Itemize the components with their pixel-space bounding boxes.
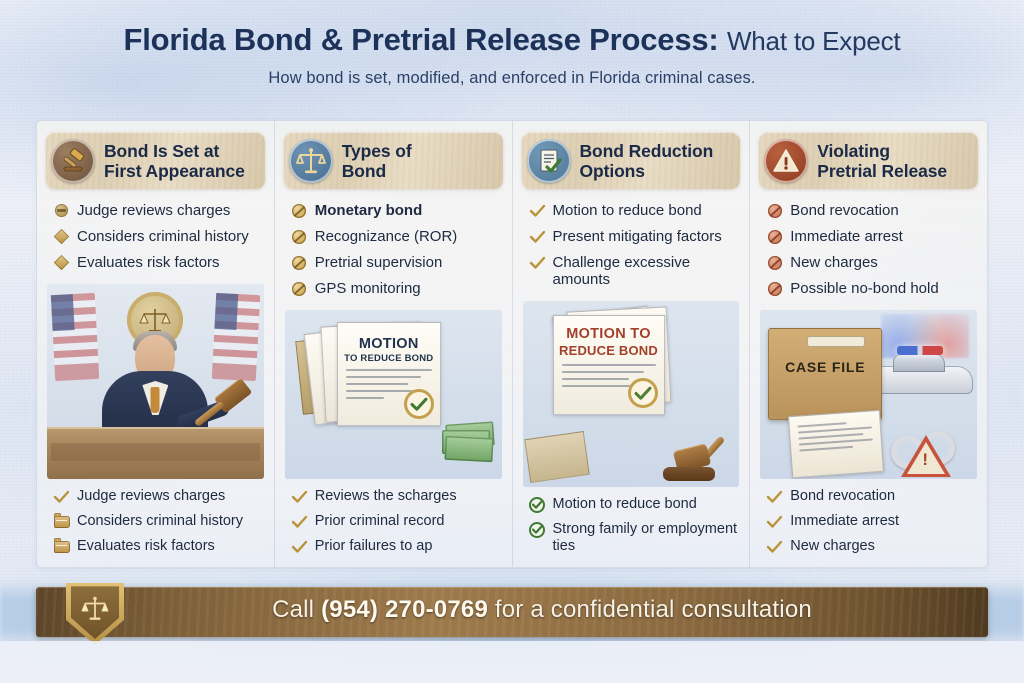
check-icon — [528, 228, 547, 245]
coin-bullet-icon — [290, 228, 309, 245]
column-title-violating-pretrial-release: Violating Pretrial Release — [817, 141, 947, 181]
green-check-icon — [528, 521, 547, 538]
motion-doc-subtitle: TO REDUCE BOND — [338, 353, 440, 364]
check-icon — [528, 202, 547, 219]
list-item: Monetary bond — [290, 202, 501, 219]
column-header-bond-is-set: Bond Is Set at First Appearance — [46, 132, 265, 189]
list-violating-bottom: Bond revocation Immediate arrest New cha… — [759, 479, 978, 563]
list-bond-reduction-top: Motion to reduce bond Present mitigating… — [522, 189, 741, 297]
list-item: Prior failures to ap — [290, 538, 501, 555]
column-header-bond-reduction-options: Bond Reduction Options — [522, 132, 741, 189]
column-bond-reduction-options: Bond Reduction Options Motion to reduce … — [513, 121, 751, 567]
list-item: Immediate arrest — [765, 513, 976, 530]
list-bond-is-set-top: Judge reviews charges Considers criminal… — [46, 189, 265, 280]
column-header-types-of-bond: Types of Bond — [284, 132, 503, 189]
list-types-of-bond-top: Monetary bond Recognizance (ROR) Pretria… — [284, 189, 503, 306]
police-car-icon — [871, 346, 975, 402]
red-coin-bullet-icon — [765, 280, 784, 297]
warning-triangle-icon — [764, 139, 808, 183]
scales-icon — [289, 139, 333, 183]
page-title-main: Florida Bond & Pretrial Release Process: — [124, 22, 719, 57]
warning-exclamation: ! — [922, 451, 928, 469]
column-title-types-of-bond: Types of Bond — [342, 141, 412, 181]
list-item: Present mitigating factors — [528, 228, 739, 245]
list-item: Judge reviews charges — [52, 202, 263, 219]
list-item: Considers criminal history — [52, 228, 263, 245]
list-item: Considers criminal history — [52, 513, 263, 530]
case-file-label: CASE FILE — [769, 359, 881, 375]
cta-text: Call (954) 270-0769 for a confidential c… — [0, 596, 1024, 624]
bottom-edge-wash — [0, 641, 1024, 683]
list-item: Possible no-bond hold — [765, 280, 976, 297]
column-title-bond-reduction-options: Bond Reduction Options — [580, 141, 714, 181]
motion-document: MOTION TO REDUCE BOND — [337, 322, 441, 426]
police-lightbar — [897, 346, 943, 355]
list-item: Pretrial supervision — [290, 254, 501, 271]
list-item: GPS monitoring — [290, 280, 501, 297]
list-item: Recognizance (ROR) — [290, 228, 501, 245]
diamond-bullet-icon — [52, 254, 71, 271]
check-icon — [290, 538, 309, 555]
disc-bullet-icon — [52, 202, 71, 219]
red-coin-bullet-icon — [765, 202, 784, 219]
document-check-icon — [527, 139, 571, 183]
check-icon — [765, 513, 784, 530]
case-file-folder: CASE FILE — [768, 328, 882, 420]
case-document — [788, 410, 884, 478]
call-to-action-banner[interactable]: Call (954) 270-0769 for a confidential c… — [0, 585, 1024, 643]
folder-icon — [52, 538, 71, 555]
list-item: Challenge excessive amounts — [528, 254, 739, 288]
motion-documents-and-cash-illustration: MOTION TO REDUCE BOND — [285, 310, 502, 479]
infographic-header: Florida Bond & Pretrial Release Process:… — [0, 22, 1024, 88]
case-file-police-car-handcuffs-illustration: CASE FILE ! — [760, 310, 977, 479]
motion-reduce-title: MOTION TO — [554, 326, 664, 342]
cash-stack-icon — [442, 423, 494, 457]
coin-bullet-icon — [290, 202, 309, 219]
list-item: Evaluates risk factors — [52, 538, 263, 555]
check-icon — [765, 538, 784, 555]
column-title-bond-is-set: Bond Is Set at First Appearance — [104, 141, 245, 181]
green-check-seal-icon — [628, 378, 658, 408]
column-types-of-bond: Types of Bond Monetary bond Recognizance… — [275, 121, 513, 567]
judge-at-bench-illustration — [47, 284, 264, 479]
folder-icon — [52, 513, 71, 530]
coin-bullet-icon — [290, 254, 309, 271]
check-icon — [52, 488, 71, 505]
motion-doc-title: MOTION — [338, 336, 440, 352]
cta-prefix: Call — [272, 596, 321, 623]
check-icon — [290, 513, 309, 530]
page-subtitle: How bond is set, modified, and enforced … — [0, 69, 1024, 88]
list-item: Prior criminal record — [290, 513, 501, 530]
check-icon — [765, 488, 784, 505]
list-item: Bond revocation — [765, 202, 976, 219]
red-coin-bullet-icon — [765, 228, 784, 245]
motion-reduce-subtitle: REDUCE BOND — [554, 343, 664, 358]
list-item: Motion to reduce bond — [528, 496, 739, 513]
coin-bullet-icon — [290, 280, 309, 297]
us-flag-right — [212, 293, 260, 381]
motion-reduce-document: MOTION TO REDUCE BOND — [553, 315, 665, 415]
judge-bench — [47, 427, 264, 479]
list-item: Immediate arrest — [765, 228, 976, 245]
check-icon — [290, 488, 309, 505]
column-header-violating-pretrial-release: Violating Pretrial Release — [759, 132, 978, 189]
list-item: New charges — [765, 254, 976, 271]
gavel-icon — [51, 139, 95, 183]
list-item: Bond revocation — [765, 488, 976, 505]
cta-phone-number[interactable]: (954) 270-0769 — [321, 596, 488, 623]
diamond-bullet-icon — [52, 228, 71, 245]
list-item: Reviews the scharges — [290, 488, 501, 505]
list-item: Strong family or employment ties — [528, 521, 739, 555]
list-item: Motion to reduce bond — [528, 202, 739, 219]
red-coin-bullet-icon — [765, 254, 784, 271]
tan-folder — [524, 431, 590, 483]
page-title: Florida Bond & Pretrial Release Process:… — [0, 22, 1024, 58]
check-icon — [528, 254, 547, 271]
list-item: New charges — [765, 538, 976, 555]
page-title-tail: What to Expect — [727, 26, 901, 56]
motion-to-reduce-bond-with-gavel-illustration: MOTION TO REDUCE BOND — [523, 301, 740, 487]
list-types-of-bond-bottom: Reviews the scharges Prior criminal reco… — [284, 479, 503, 563]
column-violating-pretrial-release: Violating Pretrial Release Bond revocati… — [750, 121, 987, 567]
list-item: Evaluates risk factors — [52, 254, 263, 271]
list-bond-reduction-bottom: Motion to reduce bond Strong family or e… — [522, 487, 741, 563]
list-item: Judge reviews charges — [52, 488, 263, 505]
column-bond-is-set: Bond Is Set at First Appearance Judge re… — [37, 121, 275, 567]
list-bond-is-set-bottom: Judge reviews charges Considers criminal… — [46, 479, 265, 563]
green-check-seal-icon — [404, 389, 434, 419]
columns-board: Bond Is Set at First Appearance Judge re… — [36, 120, 988, 568]
green-check-icon — [528, 496, 547, 513]
list-violating-top: Bond revocation Immediate arrest New cha… — [759, 189, 978, 306]
us-flag-left — [51, 293, 99, 381]
cta-suffix: for a confidential consultation — [488, 596, 812, 623]
gavel-illustration-icon — [661, 429, 723, 481]
